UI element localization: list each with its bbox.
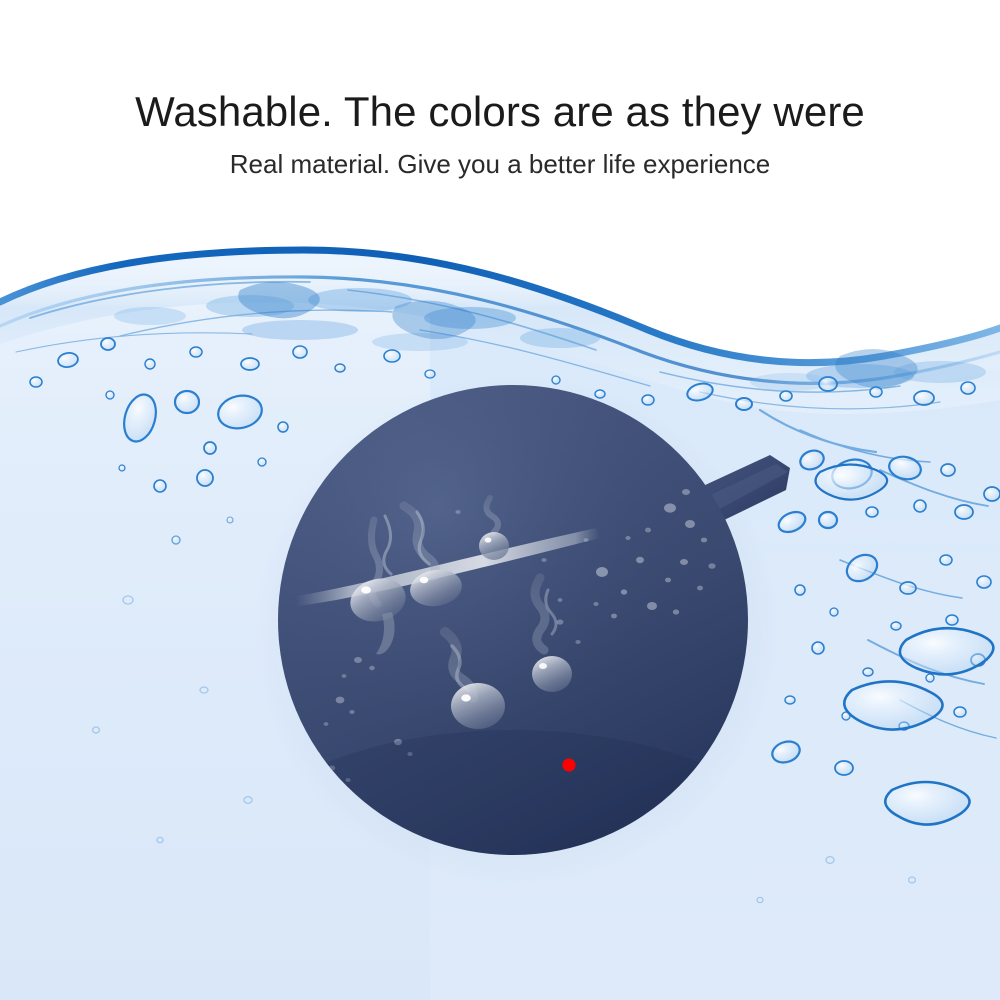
page-headline: Washable. The colors are as they were	[0, 88, 1000, 135]
headline-block: Washable. The colors are as they were Re…	[0, 0, 1000, 180]
bubbles-upper-left	[30, 338, 435, 387]
product-banner-scene: Washable. The colors are as they were Re…	[0, 0, 1000, 1000]
bubbles-crest-right	[552, 376, 975, 410]
bubbles-left	[106, 391, 288, 544]
page-subheadline: Real material. Give you a better life ex…	[0, 149, 1000, 180]
